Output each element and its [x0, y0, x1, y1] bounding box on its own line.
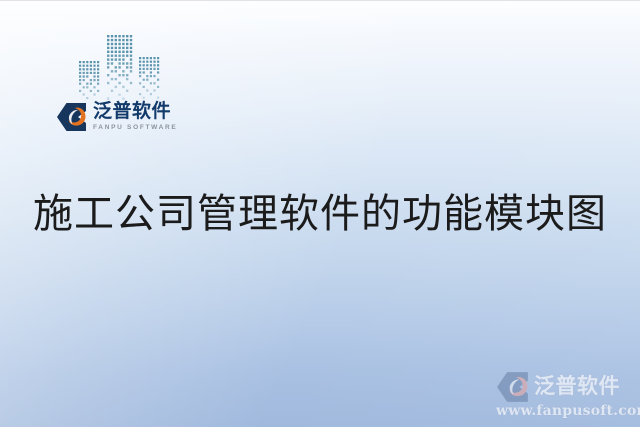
brand-logo-text: 泛普软件 FANPU SOFTWARE — [93, 102, 177, 132]
middle-tower — [106, 35, 134, 101]
page-title: 施工公司管理软件的功能模块图 — [0, 191, 640, 238]
left-tower — [78, 61, 102, 101]
brand-logo: 泛普软件 FANPU SOFTWARE — [56, 102, 177, 132]
brand-name-en: FANPU SOFTWARE — [93, 124, 177, 132]
watermark: 泛普软件 www.fanpusoft.com — [496, 371, 634, 419]
title-slide: 泛普软件 FANPU SOFTWARE 施工公司管理软件的功能模块图 泛普软件 … — [0, 0, 640, 427]
right-tower — [138, 57, 162, 101]
fanpu-logo-watermark-icon — [496, 371, 530, 402]
watermark-brand-row: 泛普软件 — [496, 371, 634, 402]
brand-name-cn: 泛普软件 — [93, 102, 177, 122]
city-buildings-icon — [78, 33, 164, 101]
fanpu-logo-icon — [56, 102, 88, 132]
watermark-url: www.fanpusoft.com — [496, 403, 634, 419]
watermark-brand-name: 泛普软件 — [534, 376, 620, 397]
